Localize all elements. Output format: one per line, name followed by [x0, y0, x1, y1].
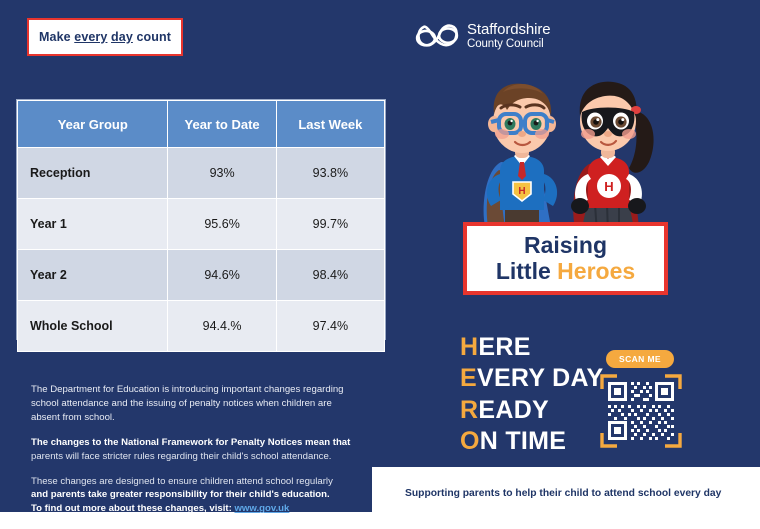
info-paragraph-3: These changes are designed to ensure chi… — [31, 475, 356, 517]
make-every-day-count-badge: Make every day count — [27, 18, 183, 56]
cell-last-week: 98.4% — [276, 250, 384, 301]
acronym-cap-r: R — [460, 396, 478, 424]
cell-last-week: 97.4% — [276, 301, 384, 352]
cell-year-group: Year 2 — [18, 250, 168, 301]
info-p3-line3: To find out more about these changes, vi… — [31, 503, 234, 514]
column-header-year-to-date: Year to Date — [168, 101, 276, 148]
cell-last-week: 99.7% — [276, 199, 384, 250]
column-header-year-group: Year Group — [18, 101, 168, 148]
attendance-table-container: Year Group Year to Date Last Week Recept… — [16, 99, 386, 340]
staffordshire-county-council-logo: Staffordshire County Council — [415, 22, 550, 51]
boy-hero-figure: H — [484, 84, 558, 233]
cell-year-to-date: 93% — [168, 148, 276, 199]
acronym-cap-e: E — [460, 364, 477, 392]
badge-underline-day: day — [111, 30, 133, 44]
svg-text:H: H — [604, 179, 613, 194]
scan-me-badge: SCAN ME — [606, 350, 674, 368]
cell-last-week: 93.8% — [276, 148, 384, 199]
staffordshire-knot-icon — [415, 22, 459, 50]
rlh-little-text: Little — [496, 258, 557, 284]
info-p2-line1: The changes to the National Framework fo… — [31, 437, 350, 448]
acronym-cap-h: H — [460, 333, 478, 361]
info-p2-line2: parents will face stricter rules regardi… — [31, 451, 331, 462]
table-row: Whole School 94.4.% 97.4% — [18, 301, 385, 352]
table-header-row: Year Group Year to Date Last Week — [18, 101, 385, 148]
qr-code-icon[interactable] — [598, 372, 684, 450]
logo-line-1: Staffordshire — [467, 22, 550, 38]
acronym-line-ready: READY — [460, 395, 604, 426]
badge-underline-every: every — [74, 30, 107, 44]
info-paragraph-2: The changes to the National Framework fo… — [31, 436, 356, 464]
logo-text: Staffordshire County Council — [467, 22, 550, 51]
acronym-rest-every-day: VERY DAY — [477, 364, 604, 392]
cell-year-to-date: 95.6% — [168, 199, 276, 250]
cell-year-to-date: 94.6% — [168, 250, 276, 301]
logo-line-2: County Council — [467, 38, 550, 50]
information-text-block: The Department for Education is introduc… — [31, 383, 356, 516]
cell-year-to-date: 94.4.% — [168, 301, 276, 352]
gov-uk-link[interactable]: www.gov.uk — [234, 503, 289, 514]
attendance-poster: Make every day count Staffordshire Count… — [0, 0, 760, 529]
info-p3-line2: and parents take greater responsibility … — [31, 489, 330, 500]
acronym-rest-ready: EADY — [478, 396, 549, 424]
bottom-banner-text: Supporting parents to help their child t… — [405, 488, 721, 499]
acronym-rest-here: ERE — [478, 333, 530, 361]
rlh-heroes-text: Heroes — [557, 258, 635, 284]
acronym-cap-o: O — [460, 427, 480, 455]
girl-chest-emblem: H — [597, 174, 621, 198]
table-row: Reception 93% 93.8% — [18, 148, 385, 199]
rlh-line-2: Little Heroes — [496, 259, 635, 285]
table-row: Year 1 95.6% 99.7% — [18, 199, 385, 250]
cell-year-group: Whole School — [18, 301, 168, 352]
rlh-line-1: Raising — [524, 233, 607, 259]
info-paragraph-1: The Department for Education is introduc… — [31, 383, 356, 425]
column-header-last-week: Last Week — [276, 101, 384, 148]
acronym-rest-on-time: N TIME — [480, 427, 567, 455]
info-p3-line1: These changes are designed to ensure chi… — [31, 476, 333, 487]
cell-year-group: Year 1 — [18, 199, 168, 250]
acronym-line-here: HERE — [460, 332, 604, 363]
superhero-children-illustration: H — [443, 58, 689, 233]
acronym-line-on-time: ON TIME — [460, 426, 604, 457]
raising-little-heroes-box: Raising Little Heroes — [463, 222, 668, 295]
attendance-table: Year Group Year to Date Last Week Recept… — [17, 100, 385, 352]
cell-year-group: Reception — [18, 148, 168, 199]
hero-acronym-block: HERE EVERY DAY READY ON TIME — [460, 332, 604, 457]
qr-code-block[interactable]: SCAN ME — [598, 350, 686, 450]
acronym-line-every-day: EVERY DAY — [460, 363, 604, 394]
table-row: Year 2 94.6% 98.4% — [18, 250, 385, 301]
svg-text:H: H — [518, 186, 525, 197]
make-every-day-count-text: Make every day count — [39, 30, 171, 44]
girl-hero-figure: H — [571, 82, 654, 233]
bottom-banner: Supporting parents to help their child t… — [372, 467, 760, 529]
